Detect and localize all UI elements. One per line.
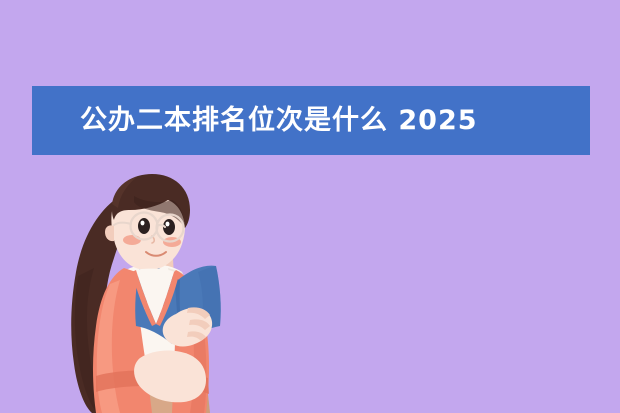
page-title: 公办二本排名位次是什么 2025: [80, 107, 478, 134]
page-canvas: 公办二本排名位次是什么 2025: [0, 0, 620, 413]
woman-reading-book-illustration: [48, 168, 248, 413]
title-banner: 公办二本排名位次是什么 2025: [32, 86, 590, 155]
left-eye: [138, 218, 150, 234]
left-blush: [123, 235, 141, 245]
left-eye-glint: [141, 221, 145, 226]
right-eye-glint: [166, 222, 170, 227]
